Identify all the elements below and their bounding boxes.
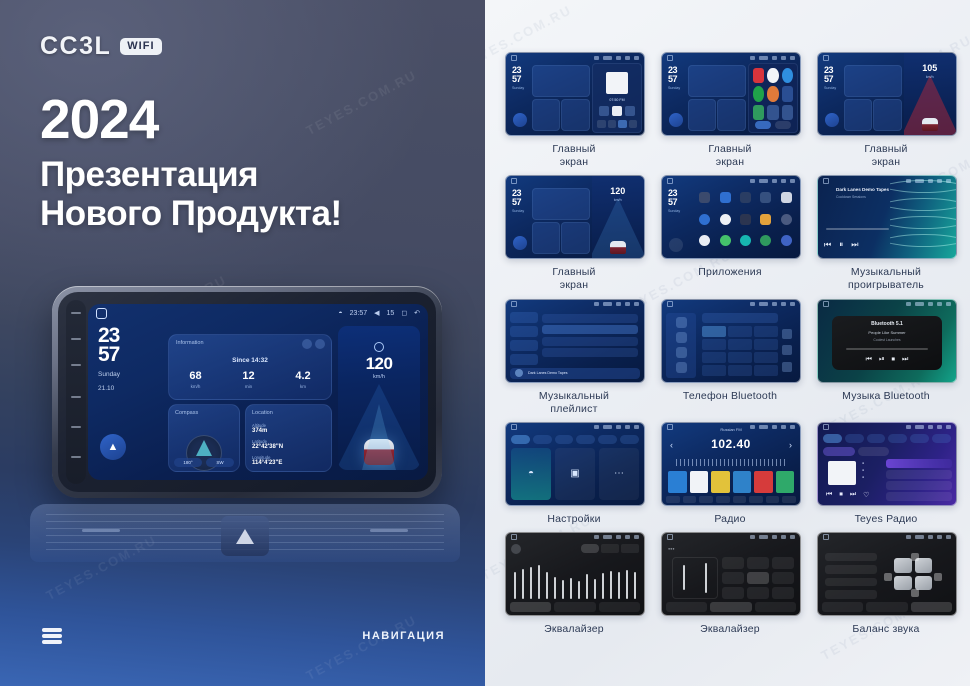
stat-item: 4.2km [295, 371, 310, 389]
preset-station[interactable] [668, 471, 687, 493]
home-icon [667, 55, 673, 61]
bt-track-artist: Coolest Launches [873, 338, 900, 342]
next-icon[interactable]: ⏭ [851, 240, 858, 250]
settings-tab[interactable] [555, 435, 574, 444]
tab-balance[interactable] [554, 602, 595, 612]
equalizer-tabs[interactable] [510, 602, 640, 612]
gallery-item[interactable]: 23 57 Sunday 07:50 FM [505, 52, 643, 169]
preset-tile-active[interactable] [747, 572, 769, 584]
compass-card [688, 99, 716, 131]
tab[interactable] [867, 434, 886, 443]
gallery-item[interactable]: 23 57 Sunday [661, 175, 799, 292]
call-icon[interactable] [782, 362, 792, 372]
album-art [515, 369, 523, 377]
road-illustration [338, 374, 420, 470]
since-label: Since 14:32 [169, 357, 331, 364]
screenshot-gallery: TEYES.COM.RU TEYES.COM.RU TEYES.COM.RU T… [485, 0, 970, 686]
thumbnail-home-nav-red[interactable]: 23 57 Sunday 105 km/h [817, 52, 957, 136]
home-icon [823, 424, 829, 430]
station-list[interactable] [886, 459, 952, 501]
preset-row[interactable] [825, 590, 877, 599]
compass-heading: 180° [174, 458, 202, 467]
vent-slot [82, 529, 120, 532]
gallery-item[interactable]: ●●● [661, 532, 799, 636]
preset-icon[interactable] [511, 544, 521, 554]
app-icon[interactable] [740, 192, 751, 203]
gallery-item[interactable]: Телефон Bluetooth [661, 299, 799, 416]
app-icon[interactable] [699, 214, 710, 225]
compass-readouts: 180° SW [174, 458, 234, 467]
wifi-tile[interactable]: ◓ [511, 448, 551, 500]
preset-station[interactable] [754, 471, 773, 493]
carplay-tile[interactable]: ▣ [555, 448, 595, 500]
stat-unit: km [295, 384, 310, 389]
equalizer-sliders[interactable] [514, 555, 636, 599]
car-3d-model [364, 439, 394, 465]
thumb-clock-day: Sunday [668, 86, 680, 91]
speed-limit-icon [374, 342, 384, 352]
phone-sidebar[interactable] [666, 313, 696, 378]
watermark: TEYES.COM.RU [304, 612, 420, 683]
compass-card [532, 222, 560, 254]
app-icon[interactable] [781, 192, 792, 203]
gallery-item-label: Эквалайзер [505, 623, 643, 636]
car-icon[interactable]: ◻ [401, 309, 407, 317]
assistant-icon [825, 113, 839, 127]
preset-row[interactable] [825, 553, 877, 562]
refresh-icon[interactable] [315, 339, 325, 349]
next-icon[interactable]: ⏭ [902, 356, 908, 364]
preset-tabs[interactable] [581, 544, 639, 553]
thumbnail-music-player[interactable]: Dark Lanes Demo Tapes Cooldown Sessions … [817, 175, 957, 259]
hero-panel: TEYES.COM.RU TEYES.COM.RU TEYES.COM.RU T… [0, 0, 485, 686]
altitude-value: 374m [252, 428, 325, 434]
app-drawer-grid[interactable] [696, 190, 795, 252]
settings-tab[interactable] [533, 435, 552, 444]
compass-card[interactable]: Compass 180° SW [168, 404, 240, 472]
compass-direction: SW [206, 458, 234, 467]
previous-station-icon[interactable]: ‹ [670, 440, 673, 450]
settings-tab[interactable] [598, 435, 617, 444]
thumb-clock-minutes: 57 [668, 75, 677, 83]
preset-tile[interactable] [722, 557, 744, 569]
key-3[interactable] [754, 326, 778, 337]
tab-tone[interactable] [755, 602, 796, 612]
tab-tone[interactable] [599, 602, 640, 612]
key-4[interactable] [702, 339, 726, 350]
now-playing-title: Dark Lanes Demo Tapes [528, 371, 568, 375]
speed-unit: km/h [592, 198, 644, 202]
next-icon[interactable]: ⏭ [850, 491, 856, 499]
settings-tabs[interactable] [511, 435, 639, 444]
thumbnail-playlist[interactable]: Dark Lanes Demo Tapes [505, 299, 645, 383]
playback-controls[interactable]: ⏮ ⏯ ⏹ ⏭ [866, 356, 909, 364]
gallery-item[interactable]: Dark Lanes Demo Tapes Музыкальныйплейлис… [505, 299, 643, 416]
hazard-light-button[interactable] [221, 516, 269, 556]
tab-eq[interactable] [510, 602, 551, 612]
thumbnail-radio[interactable]: Russian FM 102.40 ‹ › [661, 422, 801, 506]
app-icon[interactable] [699, 235, 710, 246]
play-pause-icon[interactable]: ⏯ [879, 356, 885, 364]
key-9[interactable] [754, 352, 778, 363]
location-card [561, 99, 590, 131]
hero-year: 2024 [40, 92, 342, 147]
toolbar-button[interactable] [699, 496, 713, 503]
navigation-card: 120 km/h [592, 176, 644, 258]
stop-icon[interactable]: ⏹ [839, 491, 843, 499]
balance-up-button[interactable] [911, 553, 919, 561]
next-station-icon[interactable]: › [789, 440, 792, 450]
thumb-clock-minutes: 57 [512, 198, 521, 206]
thumb-clock-day: Sunday [512, 86, 524, 91]
clock-date: 21.10 [98, 385, 162, 394]
thumbnail-bluetooth-phone[interactable] [661, 299, 801, 383]
hero-line-1: Презентация [40, 155, 342, 194]
key-7[interactable] [702, 352, 726, 363]
station-row[interactable] [886, 459, 952, 468]
settings-tiles[interactable]: ◓ ▣ ⋯ [511, 448, 639, 500]
home-icon [823, 534, 829, 540]
key-star[interactable] [702, 365, 726, 376]
preset-grid[interactable] [722, 557, 794, 599]
dashboard-vent [30, 504, 460, 562]
information-title: Information [176, 340, 204, 346]
tab-tone[interactable] [911, 602, 952, 612]
progress-bar[interactable] [826, 228, 889, 229]
app-icon[interactable] [760, 214, 771, 225]
hero-heading: 2024 Презентация Нового Продукта! [40, 92, 342, 233]
location-card [717, 99, 746, 131]
information-card [532, 65, 590, 97]
preset-station[interactable] [711, 471, 730, 493]
gallery-item-label: Приложения [661, 266, 799, 279]
app-icon[interactable] [720, 235, 731, 246]
location-card [561, 222, 590, 254]
app-icon [753, 105, 764, 120]
bass-treble-sliders[interactable] [672, 557, 718, 599]
status-clock: 23:57 [350, 310, 368, 317]
track-title: Dark Lanes Demo Tapes [836, 187, 889, 192]
preset-tile[interactable] [772, 557, 794, 569]
speed-value: 120 [338, 355, 420, 372]
information-card [688, 65, 746, 97]
presentation-slide: TEYES.COM.RU TEYES.COM.RU TEYES.COM.RU T… [0, 0, 970, 686]
key-0[interactable] [728, 365, 752, 376]
album-art [828, 461, 856, 485]
assistant-icon [669, 113, 683, 127]
balance-pad[interactable] [884, 553, 942, 599]
thumb-clock-day: Sunday [824, 86, 836, 91]
head-unit-screen[interactable]: ◓ 23:57 ◀ 15 ◻ ↶ 23 57 Sunday 21.10 ▲ [88, 304, 428, 480]
tab-balance[interactable] [866, 602, 907, 612]
back-icon[interactable] [669, 238, 683, 252]
information-card [844, 65, 902, 97]
tab-eq[interactable] [822, 602, 863, 612]
home-icon [511, 424, 517, 430]
thumb-clock-minutes: 57 [824, 75, 833, 83]
gallery-item[interactable]: Баланс звука [817, 532, 955, 636]
navigation-card[interactable]: 120 km/h [338, 326, 420, 470]
clock-day: Sunday [98, 371, 162, 380]
speed-unit: km/h [904, 75, 956, 79]
gallery-item[interactable]: Dark Lanes Demo Tapes Cooldown Sessions … [817, 175, 955, 292]
radio-band: Russian FM [662, 427, 800, 432]
gallery-item[interactable]: Bluetooth 5.1 People Like Summer Coolest… [817, 299, 955, 416]
preset-station[interactable] [776, 471, 795, 493]
preset-tile[interactable] [772, 587, 794, 599]
brand-name: CC3L [40, 32, 111, 61]
equalizer-tabs[interactable] [666, 602, 796, 612]
gallery-item-label: Музыка Bluetooth [817, 390, 955, 403]
app-icon[interactable] [781, 214, 792, 225]
toolbar-button[interactable] [733, 496, 747, 503]
gallery-item-label: Главныйэкран [661, 143, 799, 169]
gallery-grid: 23 57 Sunday 07:50 FM [505, 52, 955, 636]
location-card[interactable]: Location Altitude 374m Latitude 22°42'38… [245, 404, 332, 472]
wifi-badge: WIFI [120, 38, 161, 55]
navigation-card: 105 km/h [904, 53, 956, 135]
preset-tile[interactable] [722, 587, 744, 599]
gallery-item-label: Телефон Bluetooth [661, 390, 799, 403]
home-icon [823, 301, 829, 307]
compass-card [844, 99, 872, 131]
app-icon [767, 105, 778, 120]
stat-unit: km/h [189, 384, 201, 389]
app-icon [753, 86, 764, 101]
tab-eq[interactable] [666, 602, 707, 612]
app-icon [767, 68, 778, 83]
favorite-icon[interactable] [782, 329, 792, 339]
gallery-item-label: Главныйэкран [505, 266, 643, 292]
track-list[interactable] [542, 314, 638, 366]
home-icon[interactable] [96, 308, 107, 319]
app-icon[interactable] [720, 214, 731, 225]
brand-logo: CC3L WIFI [40, 32, 162, 61]
gear-icon[interactable] [302, 339, 312, 349]
tab[interactable] [910, 434, 929, 443]
key-8[interactable] [728, 352, 752, 363]
preset-stations[interactable] [668, 471, 794, 493]
compass-card [532, 99, 560, 131]
home-icon [667, 301, 673, 307]
layers-icon [42, 628, 62, 644]
car-3d-model [922, 118, 938, 131]
thumbnail-settings[interactable]: ◓ ▣ ⋯ [505, 422, 645, 506]
preset-tile[interactable] [747, 557, 769, 569]
thumbnail-apps[interactable]: 23 57 Sunday [661, 175, 801, 259]
playback-controls[interactable]: ⏮ ⏹ ⏭ ♡ [826, 491, 869, 499]
progress-bar[interactable] [846, 348, 927, 350]
assistant-button[interactable]: ▲ [100, 434, 126, 460]
key-1[interactable] [702, 326, 726, 337]
home-icon [511, 534, 517, 540]
toolbar-button[interactable] [666, 496, 680, 503]
stat-value: 4.2 [295, 371, 310, 382]
key-2[interactable] [728, 326, 752, 337]
trip-stats: 68km/h 12min 4.2km [169, 371, 331, 389]
app-icon [782, 105, 793, 120]
gallery-item[interactable]: 23 57 Sunday 105 km/h Главныйэкран [817, 52, 955, 169]
balance-presets[interactable] [825, 553, 877, 599]
hero-line-2: Нового Продукта! [40, 194, 342, 233]
thumb-clock-day: Sunday [512, 209, 524, 214]
station-row[interactable] [886, 492, 952, 501]
previous-icon[interactable]: ⏮ [866, 356, 872, 364]
track-row [542, 337, 638, 346]
app-icon[interactable] [781, 235, 792, 246]
latitude-value: 22°42'38"N [252, 444, 325, 450]
speaker-grid [894, 558, 931, 589]
stat-item: 12min [242, 371, 254, 389]
preset-row[interactable] [825, 578, 877, 587]
call-actions[interactable] [778, 326, 796, 376]
preset-row[interactable] [825, 565, 877, 574]
playlist-sidebar[interactable] [510, 312, 538, 366]
previous-icon[interactable]: ⏮ [824, 240, 831, 250]
station-row[interactable] [886, 481, 952, 490]
gallery-item-label: Главныйэкран [505, 143, 643, 169]
backspace-icon[interactable] [782, 345, 792, 355]
previous-icon[interactable]: ⏮ [826, 491, 832, 499]
radio-frequency: 102.40 [662, 437, 800, 451]
gallery-item[interactable]: 23 57 Sunday [661, 52, 799, 169]
equalizer-tabs[interactable] [822, 602, 952, 612]
toolbar-button[interactable] [766, 496, 780, 503]
gallery-item-label: Настройки [505, 513, 643, 526]
app-icon[interactable] [740, 235, 751, 246]
volume-icon: ◀ [374, 309, 379, 317]
dial-pad[interactable] [702, 326, 778, 376]
thumbnail-home-media[interactable]: 23 57 Sunday 07:50 FM [505, 52, 645, 136]
thumbnail-teyes-radio[interactable]: ● ● ● ⏮ ⏹ ⏭ ♡ [817, 422, 957, 506]
app-icon[interactable] [760, 235, 771, 246]
gallery-item-label: Радио [661, 513, 799, 526]
home-icon [511, 55, 517, 61]
frequency-scale[interactable] [676, 459, 786, 466]
key-5[interactable] [728, 339, 752, 350]
settings-tab[interactable] [620, 435, 639, 444]
car-dashboard-image: ◓ 23:57 ◀ 15 ◻ ↶ 23 57 Sunday 21.10 ▲ [8, 252, 478, 562]
preset-tile[interactable] [747, 587, 769, 599]
vent-slot [370, 529, 408, 532]
thumbnail-sound-balance[interactable] [817, 532, 957, 616]
gallery-item-label: Музыкальныйплейлист [505, 390, 643, 416]
gallery-item-label: Баланс звука [817, 623, 955, 636]
back-icon[interactable]: ↶ [414, 309, 420, 317]
home-icon [823, 178, 829, 184]
gallery-item[interactable]: ◓ ▣ ⋯ Настройки [505, 422, 643, 526]
balance-left-button[interactable] [884, 573, 892, 581]
speed-value: 120 [592, 186, 644, 196]
media-card: 07:50 FM [592, 63, 642, 133]
key-hash[interactable] [754, 365, 778, 376]
pause-icon[interactable]: ⏸ [839, 240, 843, 250]
stop-icon[interactable]: ⏹ [892, 356, 896, 364]
gallery-item[interactable]: ● ● ● ⏮ ⏹ ⏭ ♡ [817, 422, 955, 526]
thumbnail-bluetooth-music[interactable]: Bluetooth 5.1 People Like Summer Coolest… [817, 299, 957, 383]
gallery-item[interactable]: Эквалайзер [505, 532, 643, 636]
home-icon [511, 301, 517, 307]
settings-tab[interactable] [511, 435, 530, 444]
home-icon [823, 55, 829, 61]
thumbnail-home-nav-blue[interactable]: 23 57 Sunday 120 km/h [505, 175, 645, 259]
more-tile[interactable]: ⋯ [599, 448, 639, 500]
gallery-item[interactable]: Russian FM 102.40 ‹ › [661, 422, 799, 526]
tab[interactable] [932, 434, 951, 443]
preset-tile[interactable] [772, 572, 794, 584]
home-icon [667, 178, 673, 184]
carplay-icon: ▣ [570, 468, 579, 479]
track-row [542, 325, 638, 334]
app-shortcuts-card [748, 63, 798, 133]
track-artist: Cooldown Sessions [836, 195, 866, 199]
stat-value: 12 [242, 371, 254, 382]
clock-minutes: 57 [98, 345, 162, 364]
favorite-icon[interactable]: ♡ [863, 491, 869, 499]
assistant-icon [513, 236, 527, 250]
now-playing-bar[interactable]: Dark Lanes Demo Tapes [510, 368, 640, 379]
preset-tile[interactable] [722, 572, 744, 584]
assistant-icon [513, 113, 527, 127]
information-card[interactable]: Information Since 14:32 68km/h 12min 4.2… [168, 334, 332, 400]
wifi-icon: ◓ [338, 310, 342, 317]
balance-down-button[interactable] [911, 589, 919, 597]
tab[interactable] [888, 434, 907, 443]
station-row[interactable] [886, 470, 952, 479]
track-row [542, 314, 638, 323]
settings-tab[interactable] [576, 435, 595, 444]
tab-balance[interactable] [710, 602, 751, 612]
bluetooth-title: Bluetooth 5.1 [871, 321, 903, 327]
longitude-value: 114°4'23"E [252, 460, 325, 466]
clock-widget: 23 57 Sunday 21.10 [98, 326, 162, 394]
thumbnail-home-apps[interactable]: 23 57 Sunday [661, 52, 801, 136]
app-icon [782, 68, 793, 83]
preset-station[interactable] [690, 471, 709, 493]
app-icon[interactable] [760, 192, 771, 203]
thumb-clock-day: Sunday [668, 209, 680, 214]
app-icon[interactable] [699, 192, 710, 203]
side-button-rail [66, 300, 86, 484]
thumbnail-equalizer-bands[interactable] [505, 532, 645, 616]
gallery-item[interactable]: 23 57 Sunday 120 km/h Главныйэкран [505, 175, 643, 292]
filter-chips[interactable] [823, 447, 889, 456]
app-icon [782, 86, 793, 101]
balance-right-button[interactable] [934, 573, 942, 581]
playback-controls[interactable]: ⏮ ⏸ ⏭ [824, 240, 858, 250]
key-6[interactable] [754, 339, 778, 350]
radio-toolbar[interactable] [666, 496, 796, 503]
wifi-icon: ◓ [528, 468, 534, 479]
app-icon[interactable] [720, 192, 731, 203]
home-icon [667, 534, 673, 540]
tab[interactable] [823, 434, 842, 443]
section-title: ●●● [668, 547, 675, 551]
gallery-item-label: Teyes Радио [817, 513, 955, 526]
toolbar-button[interactable] [749, 496, 763, 503]
preset-station[interactable] [733, 471, 752, 493]
thumbnail-equalizer-presets[interactable]: ●●● [661, 532, 801, 616]
toolbar-button[interactable] [683, 496, 697, 503]
car-3d-model [610, 241, 626, 254]
toolbar-button[interactable] [716, 496, 730, 503]
location-card [873, 99, 902, 131]
toolbar-button[interactable] [782, 496, 796, 503]
tab[interactable] [845, 434, 864, 443]
bt-track-title: People Like Summer [868, 330, 905, 335]
teyes-radio-tabs[interactable] [823, 434, 951, 443]
app-icon[interactable] [740, 214, 751, 225]
